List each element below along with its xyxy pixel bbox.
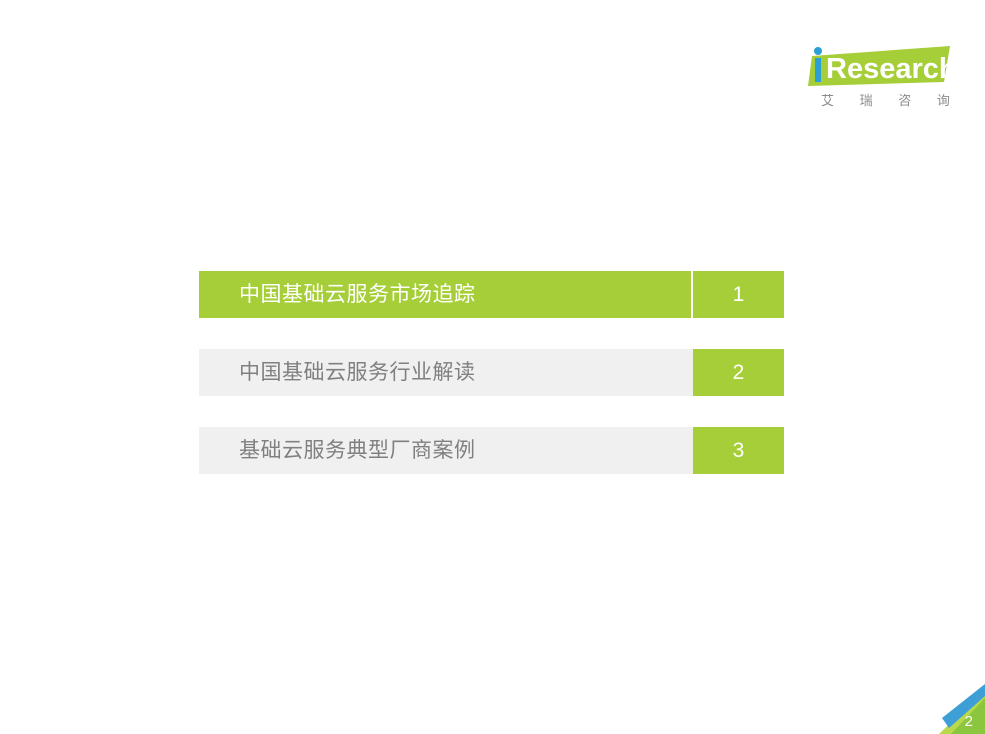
agenda-row-3[interactable]: 基础云服务典型厂商案例 3 [199, 427, 784, 474]
iresearch-logo-mark: Research [806, 44, 956, 90]
logo-i-dot [814, 47, 822, 55]
agenda-row-1-title: 中国基础云服务市场追踪 [199, 271, 691, 318]
agenda-list: 中国基础云服务市场追踪 1 中国基础云服务行业解读 2 基础云服务典型厂商案例 … [199, 271, 784, 474]
corner-ribbon-decoration-icon [939, 684, 985, 734]
slide-canvas: Research 艾 瑞 咨 询 中国基础云服务市场追踪 1 中国基础云服务行业… [0, 0, 985, 734]
agenda-row-3-number: 3 [693, 427, 784, 474]
agenda-row-1-number: 1 [691, 271, 784, 318]
logo-i-stem [815, 58, 821, 82]
iresearch-logo: Research 艾 瑞 咨 询 [806, 44, 956, 112]
agenda-row-2-number: 2 [693, 349, 784, 396]
agenda-row-2-title: 中国基础云服务行业解读 [199, 349, 693, 396]
agenda-row-3-title: 基础云服务典型厂商案例 [199, 427, 693, 474]
page-number: 2 [965, 714, 973, 729]
agenda-row-2[interactable]: 中国基础云服务行业解读 2 [199, 349, 784, 396]
logo-subtitle: 艾 瑞 咨 询 [810, 90, 952, 109]
agenda-row-1[interactable]: 中国基础云服务市场追踪 1 [199, 271, 784, 318]
logo-wordmark: Research [826, 53, 956, 85]
